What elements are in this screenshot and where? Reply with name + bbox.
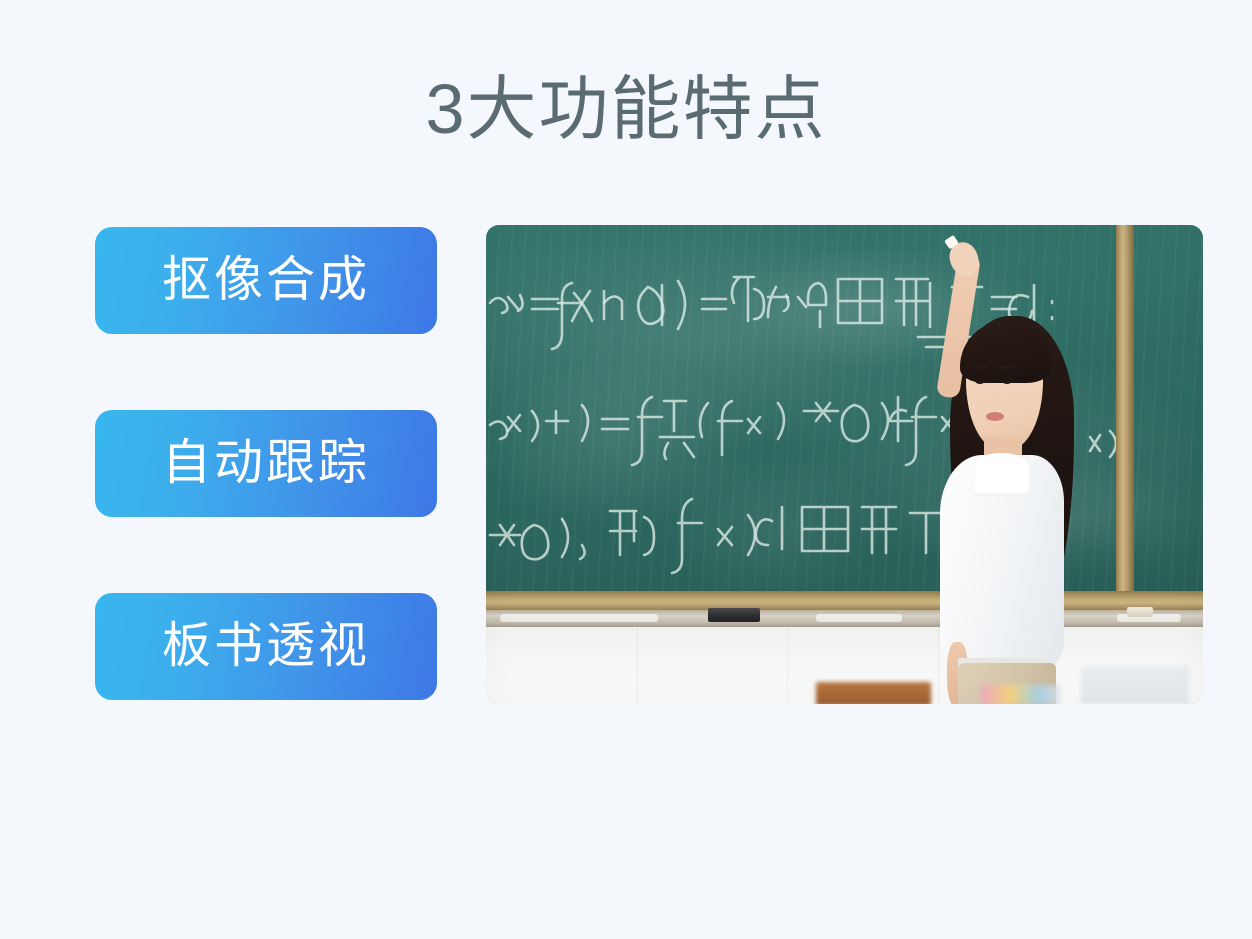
feature-label-2: 自动跟踪 [162,439,370,488]
page-title: 3大功能特点 [0,64,1252,154]
blackboard-eraser [708,608,760,622]
feature-label-1: 抠像合成 [162,256,370,305]
feature-button-3[interactable]: 板书透视 [95,593,437,700]
teacher-lips [986,412,1004,421]
slide-root: 3大功能特点 抠像合成 自动跟踪 板书透视 [0,0,1252,939]
chalk-dust [500,614,658,622]
feature-label-3: 板书透视 [162,622,370,671]
teacher-collar [973,453,1030,496]
teacher-eyebrow [972,365,987,369]
feature-button-1[interactable]: 抠像合成 [95,227,437,334]
photo-scene [486,225,1203,704]
foreground-glass-panel [1081,666,1189,704]
teacher-eyebrow [999,365,1014,369]
feature-photo [486,225,1203,704]
foreground-desk [816,682,931,704]
feature-button-2[interactable]: 自动跟踪 [95,410,437,517]
foreground-objects [981,685,1060,704]
wall-seam [637,627,638,704]
teacher-eye [1002,376,1013,383]
wall-seam [787,627,788,704]
teacher-figure [880,254,1138,704]
feature-list: 抠像合成 自动跟踪 板书透视 [95,227,437,700]
teacher-eye [975,376,986,383]
